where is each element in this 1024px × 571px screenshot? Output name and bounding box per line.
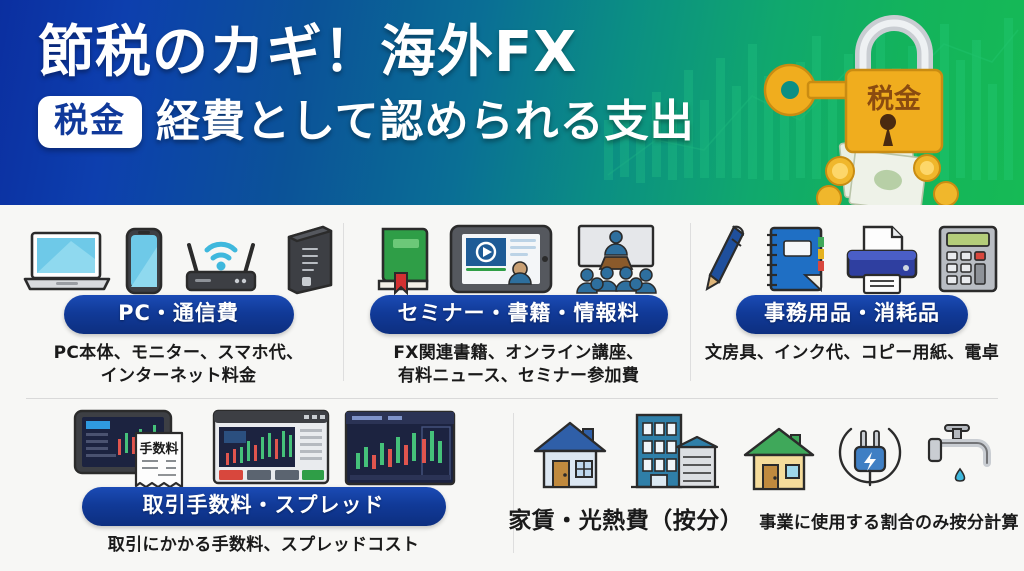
pen-icon [704, 223, 746, 295]
header-title-block: 節税のカギ！海外FX 税金 経費として認められる支出 [38, 16, 778, 150]
seminar-audience-icon [567, 223, 665, 295]
laptop-icon [23, 229, 111, 295]
card-title-pill[interactable]: 事務用品・消耗品 [736, 295, 968, 334]
card-description: FX関連書籍、オンライン講座、 有料ニュース、セミナー参加費 [347, 342, 690, 388]
smartphone-icon [125, 227, 163, 295]
card-description: PC本体、モニター、スマホ代、 インターネット料金 [14, 342, 343, 388]
padlock-icon: 税金 [846, 23, 942, 152]
horizontal-divider [26, 398, 998, 399]
header-banner: 節税のカギ！海外FX 税金 経費として認められる支出 [0, 0, 1024, 205]
card-title-row: 家賃・光熱費（按分） 事業に使用する割合のみ按分計算 [517, 501, 1010, 535]
notebook-icon [760, 223, 828, 295]
receipt-icon: 手数料 [136, 433, 182, 487]
infographic-page: 節税のカギ！海外FX 税金 経費として認められる支出 [0, 0, 1024, 571]
card-rent-utilities: 家賃・光熱費（按分） 事業に使用する割合のみ按分計算 [517, 405, 1010, 535]
card-icons: 手数料 [14, 405, 513, 487]
tablet-chart-icon: 手数料 [72, 405, 198, 487]
tablet-video-lesson-icon [449, 223, 553, 295]
card-description: 文房具、インク代、コピー用紙、電卓 [694, 342, 1010, 365]
card-icons [517, 405, 1010, 491]
card-description-line1: FX関連書籍、オンライン講座、 [347, 342, 690, 365]
expense-grid: PC・通信費 PC本体、モニター、スマホ代、 インターネット料金 [0, 205, 1024, 571]
padlock-label: 税金 [867, 83, 922, 115]
header-title: 節税のカギ！海外FX [38, 16, 778, 90]
card-title-pill[interactable]: 取引手数料・スプレッド [82, 487, 446, 526]
card-icons [694, 213, 1010, 295]
vertical-divider-2 [690, 223, 691, 381]
card-description-line1: 文房具、インク代、コピー用紙、電卓 [694, 342, 1010, 365]
card-note: 事業に使用する割合のみ按分計算 [759, 508, 1019, 533]
blue-house-icon [531, 415, 609, 491]
printer-icon [842, 223, 922, 295]
card-seminar-books-info: セミナー・書籍・情報料 FX関連書籍、オンライン講座、 有料ニュース、セミナー参… [347, 213, 690, 388]
card-office-supplies: 事務用品・消耗品 文房具、インク代、コピー用紙、電卓 [694, 213, 1010, 365]
padlock-key-money-artwork: 税金 [756, 8, 986, 205]
card-description-line1: 取引にかかる手数料、スプレッドコスト [14, 534, 513, 557]
vertical-divider-1 [343, 223, 344, 381]
header-subtitle: 経費として認められる支出 [156, 94, 695, 150]
card-description: 取引にかかる手数料、スプレッドコスト [14, 534, 513, 557]
yellow-house-icon [741, 421, 817, 491]
card-trading-fees-spread: 手数料 [14, 405, 513, 557]
card-icons [347, 213, 690, 295]
card-description-line2: インターネット料金 [14, 365, 343, 388]
card-pc-communication: PC・通信費 PC本体、モニター、スマホ代、 インターネット料金 [14, 213, 343, 388]
apartment-building-icon [629, 411, 721, 491]
card-title: 家賃・光熱費（按分） [508, 501, 743, 535]
card-description-line1: PC本体、モニター、スマホ代、 [14, 342, 343, 365]
green-book-icon [373, 223, 435, 295]
card-icons [14, 213, 343, 295]
candlestick-chart-window-icon [344, 409, 456, 487]
electric-plug-icon [837, 419, 903, 491]
card-description-line2: 有料ニュース、セミナー参加費 [347, 365, 690, 388]
desktop-tower-icon [279, 223, 335, 295]
card-title-pill[interactable]: PC・通信費 [64, 295, 294, 334]
faucet-icon [923, 417, 997, 491]
wifi-router-icon [177, 227, 265, 295]
calculator-icon [936, 223, 1000, 295]
tax-chip-badge: 税金 [38, 96, 142, 148]
header-subtitle-row: 税金 経費として認められる支出 [38, 94, 778, 150]
trading-terminal-icon [212, 407, 330, 487]
receipt-label: 手数料 [139, 441, 178, 457]
card-title-pill[interactable]: セミナー・書籍・情報料 [370, 295, 668, 334]
